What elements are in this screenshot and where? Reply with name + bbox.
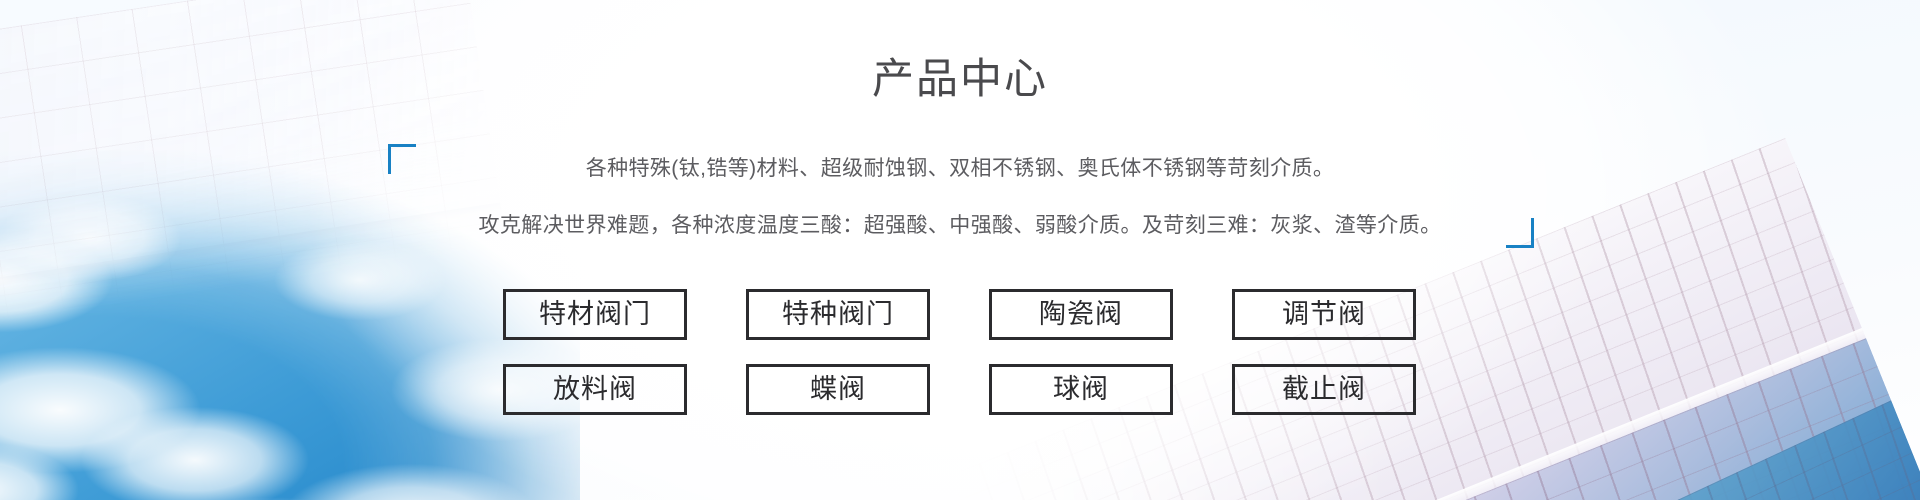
banner-content: 产品中心 各种特殊(钛,锆等)材料、超级耐蚀钢、双相不锈钢、奥氏体不锈钢等苛刻介… (0, 0, 1920, 500)
category-button-tiaojie-fa[interactable]: 调节阀 (1232, 289, 1416, 340)
category-button-fangliao-fa[interactable]: 放料阀 (503, 364, 687, 415)
category-button-taoci-fa[interactable]: 陶瓷阀 (989, 289, 1173, 340)
category-button-tecai-famen[interactable]: 特材阀门 (503, 289, 687, 340)
product-category-grid: 特材阀门 特种阀门 陶瓷阀 调节阀 放料阀 蝶阀 球阀 截止阀 (503, 289, 1415, 415)
category-button-tezhong-famen[interactable]: 特种阀门 (746, 289, 930, 340)
description-line-2: 攻克解决世界难题，各种浓度温度三酸：超强酸、中强酸、弱酸介质。及苛刻三难：灰浆、… (0, 207, 1920, 245)
decorative-corner-bracket-bottom-right (1506, 218, 1534, 248)
description-block: 各种特殊(钛,锆等)材料、超级耐蚀钢、双相不锈钢、奥氏体不锈钢等苛刻介质。 攻克… (0, 150, 1920, 245)
category-button-jiezhi-fa[interactable]: 截止阀 (1232, 364, 1416, 415)
page-title: 产品中心 (0, 52, 1920, 106)
category-button-die-fa[interactable]: 蝶阀 (746, 364, 930, 415)
decorative-corner-bracket-top-left (388, 144, 416, 174)
description-line-1: 各种特殊(钛,锆等)材料、超级耐蚀钢、双相不锈钢、奥氏体不锈钢等苛刻介质。 (0, 150, 1920, 188)
product-center-banner: 产品中心 各种特殊(钛,锆等)材料、超级耐蚀钢、双相不锈钢、奥氏体不锈钢等苛刻介… (0, 0, 1920, 500)
category-button-qiu-fa[interactable]: 球阀 (989, 364, 1173, 415)
